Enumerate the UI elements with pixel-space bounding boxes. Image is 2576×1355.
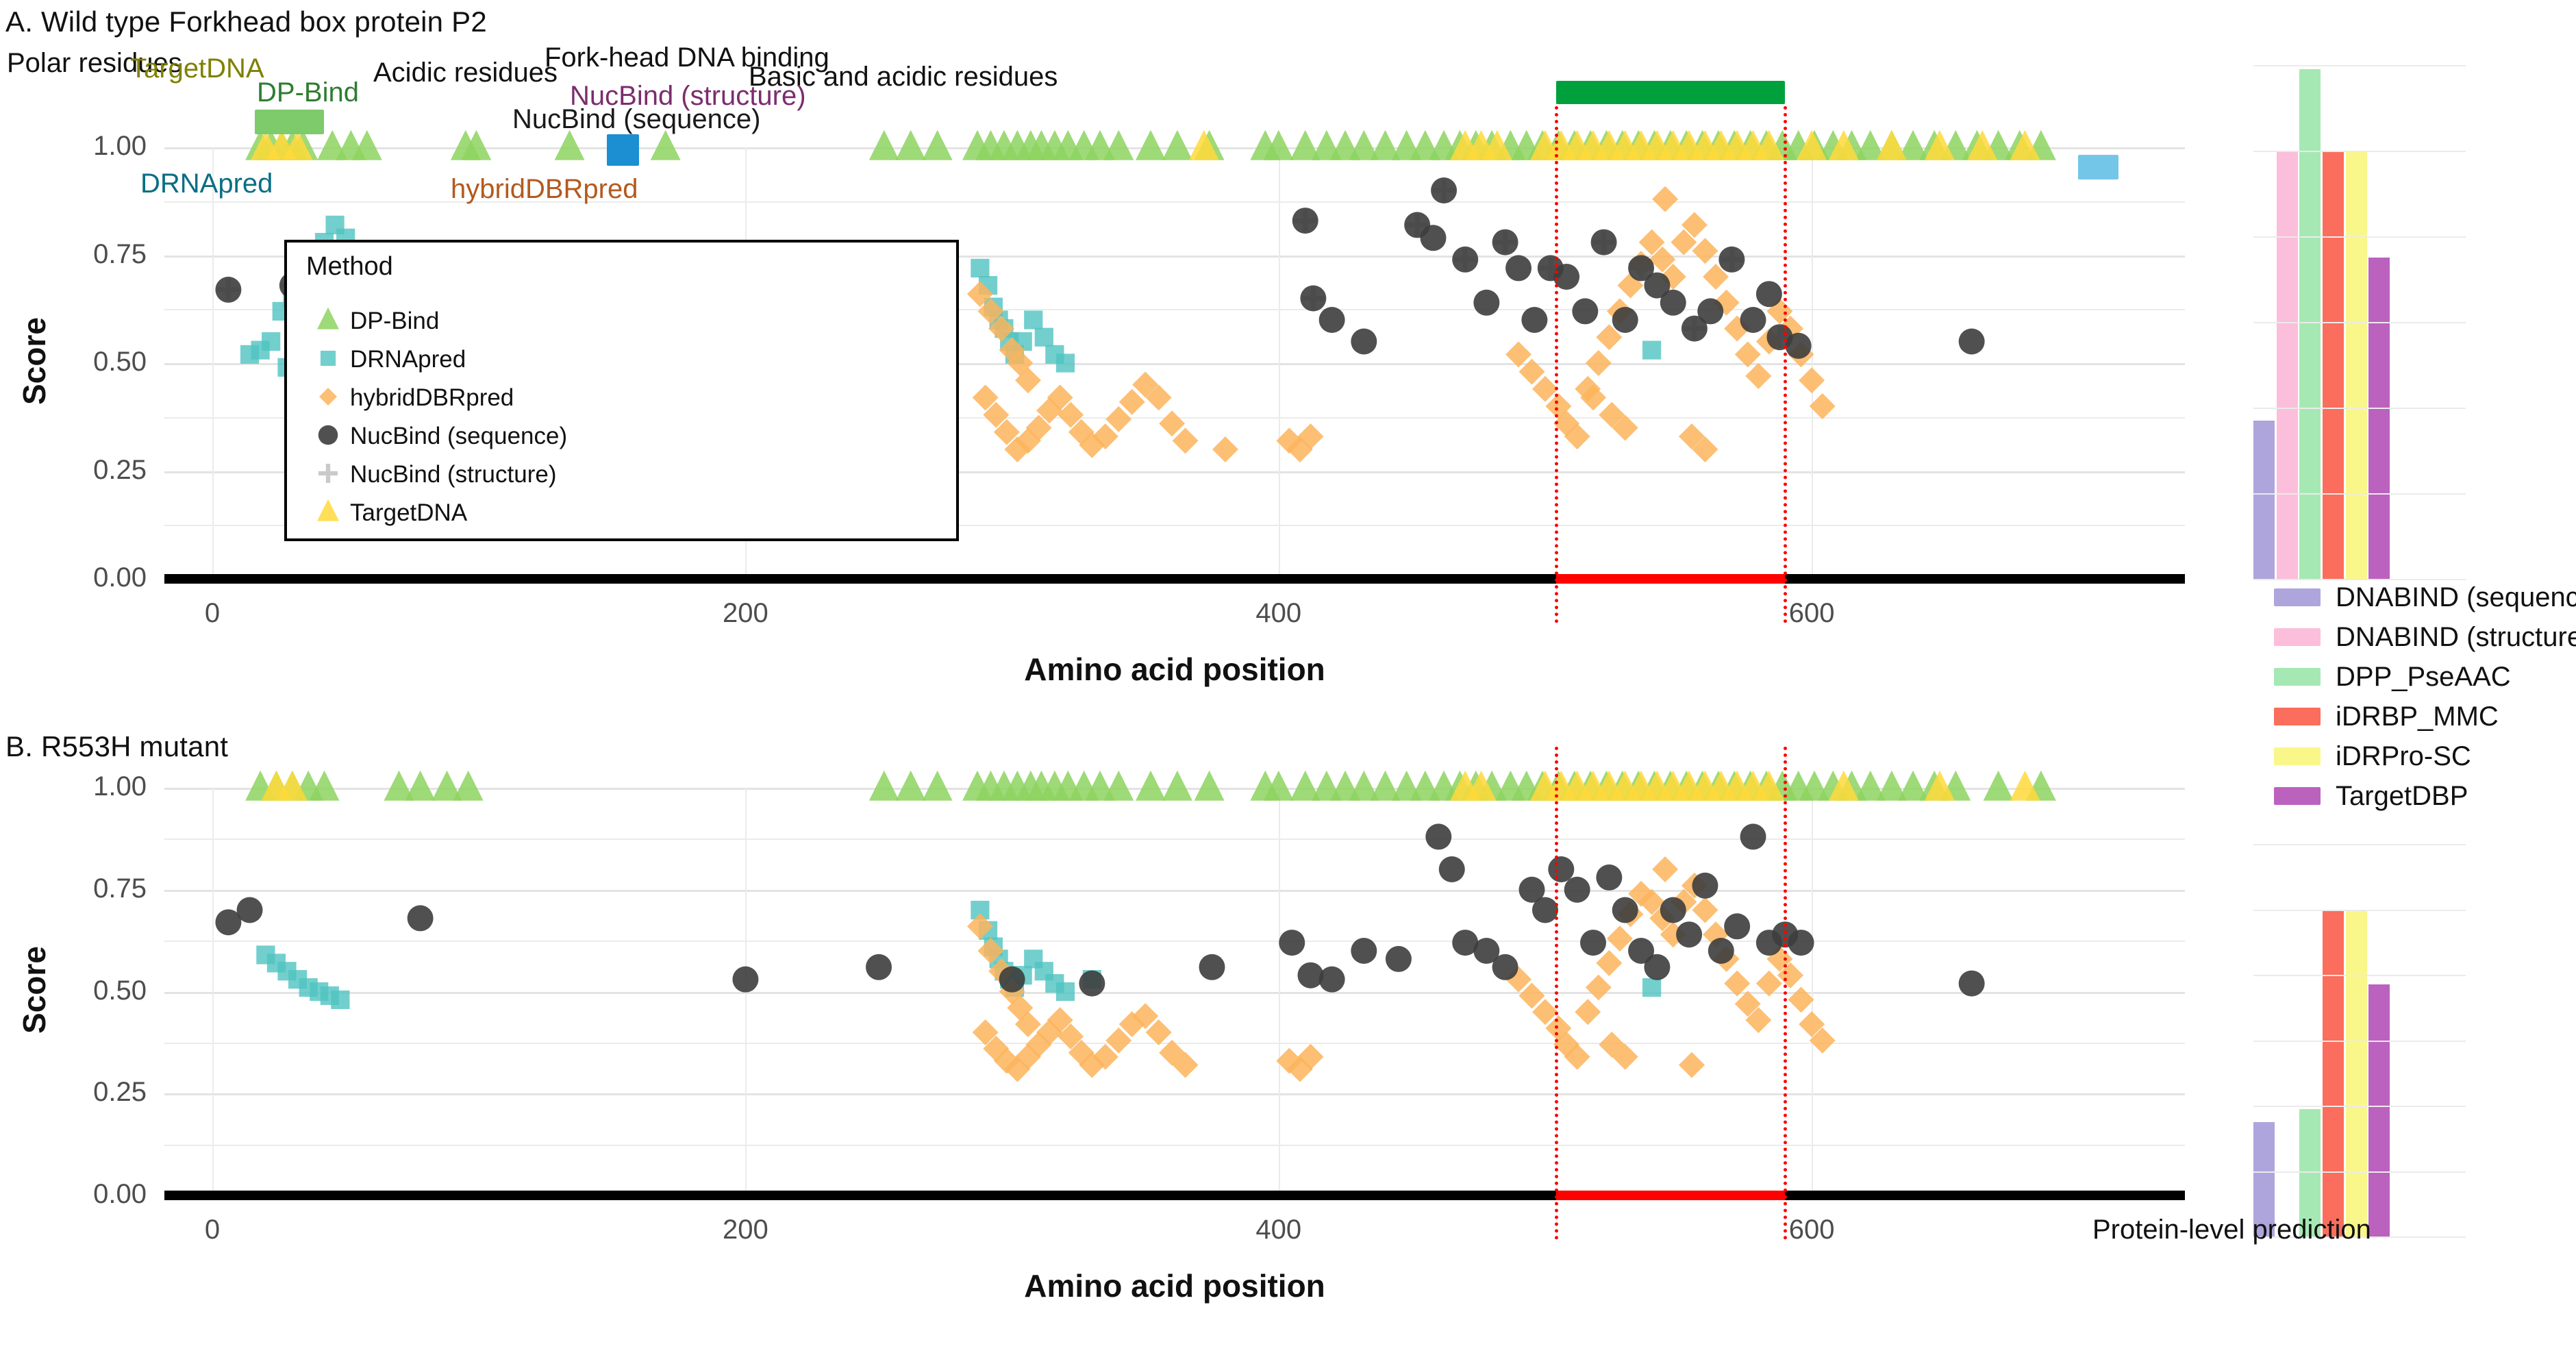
panel-b-domain-boundary-start [1555,747,1558,1240]
panel-b-y-tick: 0.00 [93,1179,147,1210]
panel-b-x-tick: 200 [704,1215,786,1245]
bar-gridline [2253,975,2466,976]
gridline-vertical [1279,788,1280,1195]
gridline-vertical [212,788,214,1195]
bar-gridline [2253,1041,2466,1042]
panel-b-x-tick: 0 [171,1215,253,1245]
protein-level-prediction-caption: Protein-level prediction [2092,1215,2371,1245]
bar-gridline [2253,910,2466,911]
panel-b-x-tick: 600 [1771,1215,1853,1245]
panel-b-y-tick: 0.25 [93,1077,147,1108]
panel-b-y-tick: 0.50 [93,975,147,1006]
panel-b-forkhead-domain-marker [1556,1191,1786,1200]
bar-gridline [2253,844,2466,845]
gridline-horizontal [164,1093,2185,1095]
panel-b-scatter-layer [0,0,2576,726]
gridline-horizontal [164,838,2185,840]
gridline-vertical [1812,788,1813,1195]
gridline-horizontal [164,890,2185,892]
panel-b-y-axis-label: Score [16,915,53,1065]
panel-b-protein-bar-targetdbp [2368,984,2390,1236]
panel-b-sequence-baseline [164,1191,2185,1200]
panel-b-protein-bar-idrpro-sc [2346,910,2367,1237]
panel-b-protein-bar-idrbp-mmc [2323,910,2344,1237]
panel-b-title: B. R553H mutant [5,730,228,763]
gridline-horizontal [164,941,2185,942]
gridline-horizontal [164,1145,2185,1146]
panel-b-y-tick: 0.75 [93,873,147,904]
panel-b-domain-boundary-end [1784,747,1787,1240]
panel-b-protein-level-bars [2253,844,2418,1236]
panel-b-x-tick: 400 [1238,1215,1320,1245]
panel-b-plot-area [164,788,2185,1195]
bar-gridline [2253,1171,2466,1173]
panel-b-y-tick: 1.00 [93,771,147,802]
gridline-horizontal [164,992,2185,994]
panel-b-x-axis-label: Amino acid position [969,1267,1380,1304]
bar-gridline [2253,1106,2466,1107]
panel-b: B. R553H mutant Score Amino acid positio… [0,726,2576,1355]
